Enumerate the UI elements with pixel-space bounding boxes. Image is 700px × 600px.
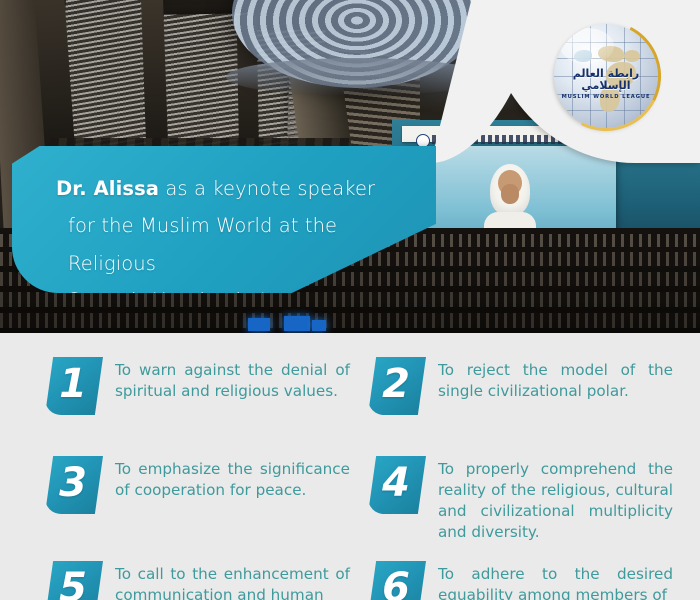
item-number-badge: 3 [45,456,103,514]
list-item: 5 To call to the enhancement of communic… [45,561,350,600]
item-number-badge: 5 [45,561,103,600]
item-text: To properly comprehend the reality of th… [438,456,673,543]
item-text: To reject the model of the single civili… [438,357,673,402]
item-text: To adhere to the desired equability amon… [438,561,673,600]
list-item: 3 To emphasize the significance of coope… [45,456,350,514]
item-number: 5 [59,568,87,600]
item-number: 2 [382,364,410,404]
item-number-badge: 2 [368,357,426,415]
infographic-page: رابطة العالم الإسلامي MUSLIM WORLD LEAGU… [0,0,700,600]
item-number-badge: 4 [368,456,426,514]
logo-arabic-name: رابطة العالم الإسلامي [554,68,658,92]
item-number-badge: 1 [45,357,103,415]
speaker-name: Dr. Alissa [56,177,159,200]
item-text: To emphasize the significance of coopera… [115,456,350,501]
logo-text: رابطة العالم الإسلامي MUSLIM WORLD LEAGU… [554,68,658,100]
muslim-world-league-logo: رابطة العالم الإسلامي MUSLIM WORLD LEAGU… [554,24,658,128]
logo-english-name: MUSLIM WORLD LEAGUE [554,94,658,100]
face [501,184,519,204]
delegate-monitor [248,318,270,331]
list-item: 6 To adhere to the desired equability am… [368,561,673,600]
item-text: To warn against the denial of spiritual … [115,357,350,402]
headline-line-1-rest: as a keynote speaker [159,177,375,200]
item-number: 4 [382,463,410,503]
list-item: 4 To properly comprehend the reality of … [368,456,673,543]
item-number: 6 [382,568,410,600]
item-text: To call to the enhancement of communicat… [115,561,350,600]
item-number-badge: 6 [368,561,426,600]
list-item: 2 To reject the model of the single civi… [368,357,673,415]
headline-line-1: Dr. Alissa as a keynote speaker [56,170,410,207]
audience-row [0,313,700,328]
delegate-monitor [284,316,310,331]
delegate-monitor [312,320,326,331]
item-number: 3 [59,463,87,503]
hero-photo: رابطة العالم الإسلامي MUSLIM WORLD LEAGU… [0,0,700,333]
objectives-list: 1 To warn against the denial of spiritua… [0,333,700,600]
list-item: 1 To warn against the denial of spiritua… [45,357,350,415]
audience-row [0,292,700,307]
item-number: 1 [59,364,87,404]
